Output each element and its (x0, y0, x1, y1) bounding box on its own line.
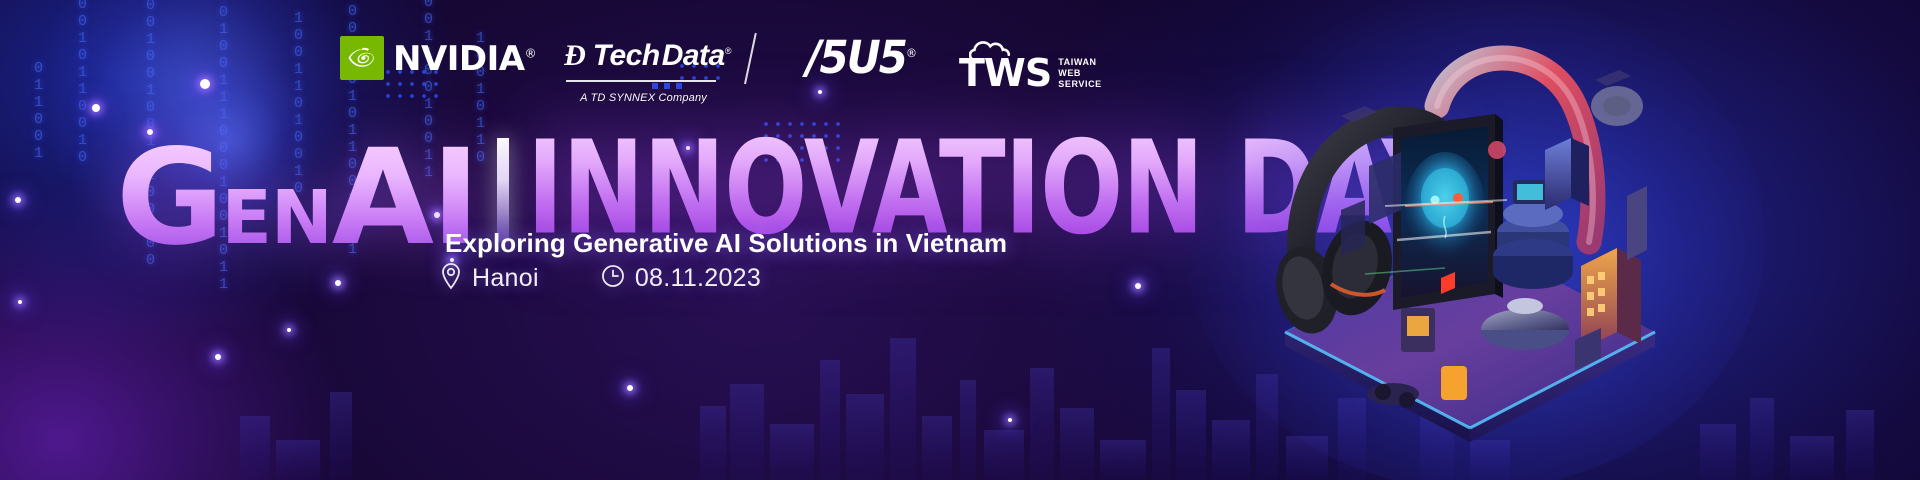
date-label: 08.11.2023 (635, 264, 761, 293)
nvidia-trademark: ® (525, 47, 537, 61)
location-label: Hanoi (472, 264, 539, 293)
tws-subline-3: SERVICE (1058, 79, 1102, 89)
tech-data-dots (652, 83, 682, 89)
logo-asus: /5U5® (806, 36, 917, 80)
glow-particle (92, 104, 100, 112)
genai-en: EN (221, 188, 331, 249)
glow-particle (1135, 283, 1141, 289)
subtitle: Exploring Generative AI Solutions in Vie… (445, 228, 1007, 259)
binary-column: 0010110010 (74, 0, 90, 166)
glow-particle (18, 300, 22, 304)
event-meta-row: Hanoi 08.11.2023 (440, 262, 761, 295)
sponsor-logo-row: NVIDIA® Ð Tech Data® A TD SYNNEX Company… (340, 36, 1102, 100)
glow-particle (15, 197, 21, 203)
glow-particle (627, 385, 633, 391)
asus-wordmark: /5U5® (806, 35, 917, 80)
genai-g: G (116, 144, 221, 252)
event-banner: 0010110010100100100111001001001001110001… (0, 0, 1920, 480)
headline-divider-bar (497, 138, 509, 242)
isometric-ai-tech-city-illustration (1245, 10, 1695, 460)
glow-particle (200, 79, 210, 89)
clock-icon (601, 264, 625, 293)
logo-nvidia: NVIDIA® (340, 36, 536, 80)
location-pin-icon (440, 262, 462, 295)
tech-data-d-mark: Ð (564, 41, 586, 71)
tws-wordmark: TWS (959, 54, 1051, 92)
glow-particle (215, 354, 221, 360)
server-stack (1493, 201, 1573, 289)
glow-particle (1008, 418, 1012, 422)
meta-location: Hanoi (440, 262, 539, 295)
binary-column: 011001 (30, 60, 46, 162)
logo-tech-data: Ð Tech Data® A TD SYNNEX Company (564, 36, 744, 100)
tws-sublines: TAIWAN WEB SERVICE (1058, 57, 1102, 90)
meta-date: 08.11.2023 (601, 264, 761, 293)
tws-subline-2: WEB (1058, 68, 1081, 78)
nvidia-wordmark: NVIDIA® (393, 42, 536, 76)
tech-data-tagline: A TD SYNNEX Company (580, 92, 707, 104)
tech-data-underline (566, 80, 716, 82)
monitor-device (1513, 180, 1547, 204)
tws-subline-1: TAIWAN (1058, 57, 1096, 67)
tech-data-slash (744, 33, 757, 84)
asus-trademark: ® (906, 46, 917, 60)
tech-data-wordmark: Tech Data® (593, 41, 731, 71)
genai-brand: GENAI (116, 144, 477, 252)
tech-data-trademark: ® (725, 46, 731, 56)
nvidia-eye-icon (340, 36, 384, 80)
glow-particle (335, 280, 341, 286)
tech-data-lockup: Ð Tech Data® (564, 36, 744, 76)
logo-tws: TWS TAIWAN WEB SERVICE (959, 36, 1102, 94)
glow-particle (287, 328, 291, 332)
